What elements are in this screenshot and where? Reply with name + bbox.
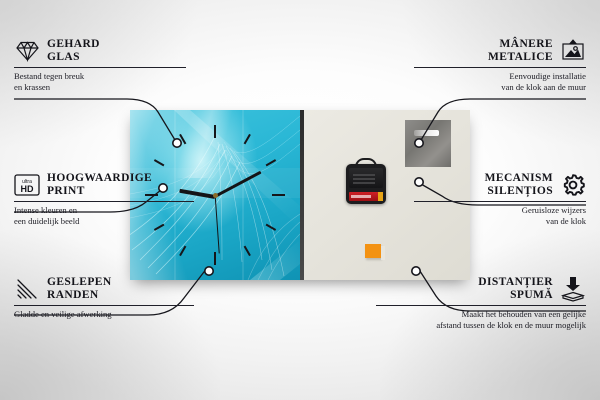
- callout-title: DISTANȚIER SPUMĂ: [478, 276, 553, 302]
- hanger-slot: [414, 130, 440, 137]
- callout-gehard-glas: GEHARD GLAS Bestand tegen breuk en krass…: [14, 38, 186, 92]
- callout-title: HOOGWAARDIGE PRINT: [47, 172, 152, 198]
- minute-hand: [214, 171, 262, 198]
- callout-rule: [14, 201, 194, 202]
- mechanism-body: [349, 168, 383, 188]
- diamond-icon: [14, 39, 40, 63]
- hour-tick: [179, 246, 186, 257]
- callout-title: GESLEPEN RANDEN: [47, 276, 112, 302]
- hour-tick: [266, 159, 277, 166]
- metal-hanger-plate: [405, 120, 451, 167]
- callout-description: Geruisloze wijzers van de klok: [414, 205, 586, 226]
- callout-rule: [14, 305, 194, 306]
- hour-tick: [266, 224, 277, 231]
- callout-distantier-spuma: DISTANȚIER SPUMĂ Maakt het behouden van …: [376, 276, 586, 330]
- svg-text:HD: HD: [21, 184, 34, 194]
- gear-icon: [560, 173, 586, 197]
- hour-tick: [179, 134, 186, 145]
- callout-hoogwaardige-print: ultra HD HOOGWAARDIGE PRINT Intense kleu…: [14, 172, 194, 226]
- callout-rule: [376, 305, 586, 306]
- callout-description: Gladde en veilige afwerking: [14, 309, 194, 320]
- ground-edges-icon: [14, 277, 40, 301]
- ultra-hd-icon: ultra HD: [14, 173, 40, 197]
- callout-geslepen-randen: GESLEPEN RANDEN Gladde en veilige afwerk…: [14, 276, 194, 320]
- callout-mecanism-silentios: MECANISM SILENȚIOS Geruisloze wijzers va…: [414, 172, 586, 226]
- callout-title: MECANISM SILENȚIOS: [485, 172, 553, 198]
- callout-title: GEHARD GLAS: [47, 38, 100, 64]
- callout-manere-metalice: MÂNERE METALICE Eenvoudige installatie v…: [414, 38, 586, 92]
- hour-tick: [244, 134, 251, 145]
- foam-spacer-side: [381, 246, 385, 260]
- infographic-stage: GEHARD GLAS Bestand tegen breuk en krass…: [0, 0, 600, 400]
- battery: [349, 192, 379, 201]
- callout-description: Eenvoudige installatie van de klok aan d…: [414, 71, 586, 92]
- hour-tick: [244, 246, 251, 257]
- hour-tick: [154, 159, 165, 166]
- foam-spacer-icon: [560, 277, 586, 301]
- hour-tick: [214, 125, 216, 138]
- clock-mechanism: [346, 164, 386, 204]
- hour-tick: [214, 252, 216, 265]
- second-hand: [214, 196, 219, 254]
- callout-description: Bestand tegen breuk en krassen: [14, 71, 186, 92]
- callout-rule: [414, 67, 586, 68]
- hour-tick: [272, 194, 285, 196]
- glass-edge: [300, 110, 304, 280]
- callout-title: MÂNERE METALICE: [488, 38, 553, 64]
- mechanism-label: [353, 174, 375, 186]
- callout-rule: [14, 67, 186, 68]
- picture-frame-icon: [560, 39, 586, 63]
- foam-spacer: [365, 244, 381, 258]
- battery-label: [351, 195, 371, 198]
- callout-description: Intense kleuren en een duidelijk beeld: [14, 205, 194, 226]
- clock-hub: [213, 193, 218, 198]
- callout-rule: [414, 201, 586, 202]
- callout-description: Maakt het behouden van een gelijke afsta…: [376, 309, 586, 330]
- battery-terminal: [378, 192, 383, 201]
